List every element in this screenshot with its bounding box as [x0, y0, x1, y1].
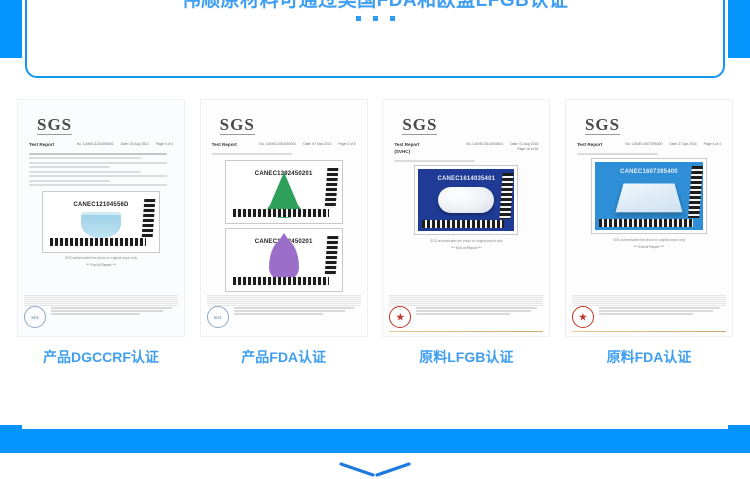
page-root: 权威认证 伟顺原材料可通过美国FDA和欧盟LFGB认证 SGS Test Rep…: [0, 0, 750, 479]
certificate-document: SGS Test Report (SVHC) No. CANEC16140354…: [383, 100, 549, 336]
star-icon: ★: [579, 313, 587, 322]
sample-object-teardrop: [269, 239, 299, 281]
star-icon: ★: [396, 313, 404, 322]
report-page: Page 16 of 16: [517, 147, 538, 152]
footer-texture: [572, 295, 726, 306]
report-number: No. CANEC1210455601: [77, 142, 114, 147]
sample-photo: CANEC1607395400: [595, 162, 703, 230]
sample-photo: CANEC12104556D: [46, 195, 156, 249]
ruler-horizontal-2: [233, 277, 329, 285]
document-footer: SGS: [24, 306, 178, 328]
official-red-stamp: ★: [572, 306, 594, 328]
certificate-card[interactable]: SGS Test Report (SVHC) No. CANEC16140354…: [383, 100, 549, 365]
report-page: Page 4 of 5: [338, 142, 355, 147]
sgs-logo: SGS: [402, 116, 437, 135]
sample-photo-frame: CANEC1607395400: [591, 158, 707, 234]
chevron-down-icon[interactable]: [337, 462, 413, 479]
ruler-horizontal: [422, 220, 504, 228]
ruler-vertical: [142, 199, 156, 237]
sample-object-softbox: [438, 187, 494, 213]
report-header: Test Report No. CANEC1607395400 Date: 27…: [575, 142, 723, 149]
sample-photo-frame: CANEC1614035401: [414, 165, 518, 235]
footer-contact-lines: [51, 306, 178, 317]
banner-dots: [27, 16, 723, 21]
report-meta: No. CANEC1092450001 Date: 07 Mar 2013 Pa…: [253, 142, 355, 147]
report-body-lines: [27, 153, 175, 187]
report-title: Test Report: [577, 142, 602, 149]
footer-rule: [572, 331, 726, 332]
band-notch: [22, 425, 728, 429]
report-body-lines: [392, 160, 540, 162]
sgs-logo: SGS: [585, 116, 620, 135]
footer-contact-lines: [234, 306, 361, 317]
official-red-stamp: ★: [389, 306, 411, 328]
ruler-horizontal: [233, 209, 329, 217]
report-header: Test Report (SVHC) No. CANEC1614035401 D…: [392, 142, 540, 156]
banner-outline-box: 权威认证 伟顺原材料可通过美国FDA和欧盟LFGB认证: [25, 0, 725, 78]
sample-object-sheet: [615, 183, 682, 212]
bottom-blue-band: [0, 425, 750, 453]
certificate-caption: 原料FDA认证: [566, 347, 732, 367]
sample-code: CANEC12104556D: [73, 202, 128, 208]
sample-object-cone: [267, 172, 301, 212]
sample-code: CANEC1614035401: [437, 176, 495, 182]
certificate-document: SGS Test Report No. CANEC1607395400 Date…: [566, 100, 732, 336]
report-number: No. CANEC1607395400: [625, 142, 662, 147]
dot-1: [356, 16, 361, 21]
report-meta: No. CANEC1607395400 Date: 27 Apr 2016 Pa…: [619, 142, 721, 147]
certificate-caption: 产品FDA认证: [201, 347, 367, 367]
sample-object-bowl: [81, 212, 121, 238]
report-title: Test Report (SVHC): [394, 142, 435, 156]
sgs-logo: SGS: [37, 116, 72, 135]
report-date: Date: 07 Mar 2013: [303, 142, 331, 147]
end-of-report-note: *** End of Report ***: [392, 246, 540, 250]
ruler-horizontal: [50, 238, 146, 246]
report-meta: No. CANEC1210455601 Date: 02 Aug 2012 Pa…: [71, 142, 173, 147]
banner-section: 权威认证 伟顺原材料可通过美国FDA和欧盟LFGB认证: [0, 0, 750, 88]
certificate-caption: 产品DGCCRF认证: [18, 347, 184, 367]
certificate-document: SGS Test Report No. CANEC1210455601 Date…: [18, 100, 184, 336]
footer-texture: [389, 295, 543, 306]
document-footer: ★: [572, 306, 726, 328]
report-number: No. CANEC1092450001: [259, 142, 296, 147]
sample-photo-frame: CANEC1392450201: [225, 160, 343, 224]
report-header: Test Report No. CANEC1092450001 Date: 07…: [210, 142, 358, 149]
sample-photo: CANEC1392450201: [229, 164, 339, 220]
photo-note: SGS authenticates the photo on original …: [575, 238, 723, 242]
certificate-card[interactable]: SGS Test Report No. CANEC1607395400 Date…: [566, 100, 732, 365]
sample-photo-frame: CANEC12104556D: [42, 191, 160, 253]
photo-note: SGS authenticates the photo on original …: [392, 239, 540, 243]
sample-photo-2: CANEC1392450201: [229, 232, 339, 288]
certificate-caption: 原料LFGB认证: [383, 347, 549, 367]
report-date: Date: 27 Apr 2016: [669, 142, 696, 147]
certificate-document: SGS Test Report No. CANEC1092450001 Date…: [201, 100, 367, 336]
sample-photo: CANEC1614035401: [418, 169, 514, 231]
sgs-logo: SGS: [220, 116, 255, 135]
sgs-stamp: SGS: [207, 306, 229, 328]
ruler-vertical-2: [324, 236, 338, 276]
certificate-card[interactable]: SGS Test Report No. CANEC1092450001 Date…: [201, 100, 367, 365]
photo-note: SGS authenticates the photo on original …: [27, 256, 175, 260]
bottom-band-section: [0, 425, 750, 453]
sample-photo-frame-2: CANEC1392450201: [225, 228, 343, 292]
document-footer: SGS: [207, 306, 361, 328]
end-of-report-note: *** End of Report ***: [575, 245, 723, 249]
report-header: Test Report No. CANEC1210455601 Date: 02…: [27, 142, 175, 149]
footer-contact-lines: [416, 306, 543, 317]
ruler-vertical: [688, 166, 703, 218]
report-title: Test Report: [29, 142, 54, 149]
report-number: No. CANEC1614035401: [466, 142, 503, 147]
report-title: Test Report: [212, 142, 237, 149]
left-accent-bar: [0, 0, 22, 58]
footer-contact-lines: [599, 306, 726, 317]
report-page: Page 4 of 4: [156, 142, 173, 147]
right-accent-bar: [728, 0, 750, 58]
document-footer: ★: [389, 306, 543, 328]
report-body-lines: [575, 153, 723, 155]
report-date: Date: 02 Aug 2012: [121, 142, 149, 147]
chevron-down-svg: [337, 462, 413, 479]
sample-code: CANEC1607395400: [620, 169, 678, 175]
certificate-card[interactable]: SGS Test Report No. CANEC1210455601 Date…: [18, 100, 184, 365]
report-meta: No. CANEC1614035401 Date: 01 Aug 2016 Pa…: [435, 142, 538, 153]
ruler-horizontal: [599, 219, 693, 227]
footer-texture: [24, 295, 178, 306]
ruler-vertical: [324, 168, 338, 208]
sgs-stamp: SGS: [24, 306, 46, 328]
certificates-row: SGS Test Report No. CANEC1210455601 Date…: [0, 100, 750, 365]
dot-2: [373, 16, 378, 21]
report-page: Page 4 of 4: [704, 142, 721, 147]
footer-texture: [207, 295, 361, 306]
ruler-vertical: [500, 173, 514, 219]
footer-rule: [389, 331, 543, 332]
end-of-report-note: *** End of Report ***: [27, 263, 175, 267]
banner-subtitle: 伟顺原材料可通过美国FDA和欧盟LFGB认证: [27, 0, 723, 12]
dot-3: [390, 16, 395, 21]
report-body-lines: [210, 153, 358, 155]
